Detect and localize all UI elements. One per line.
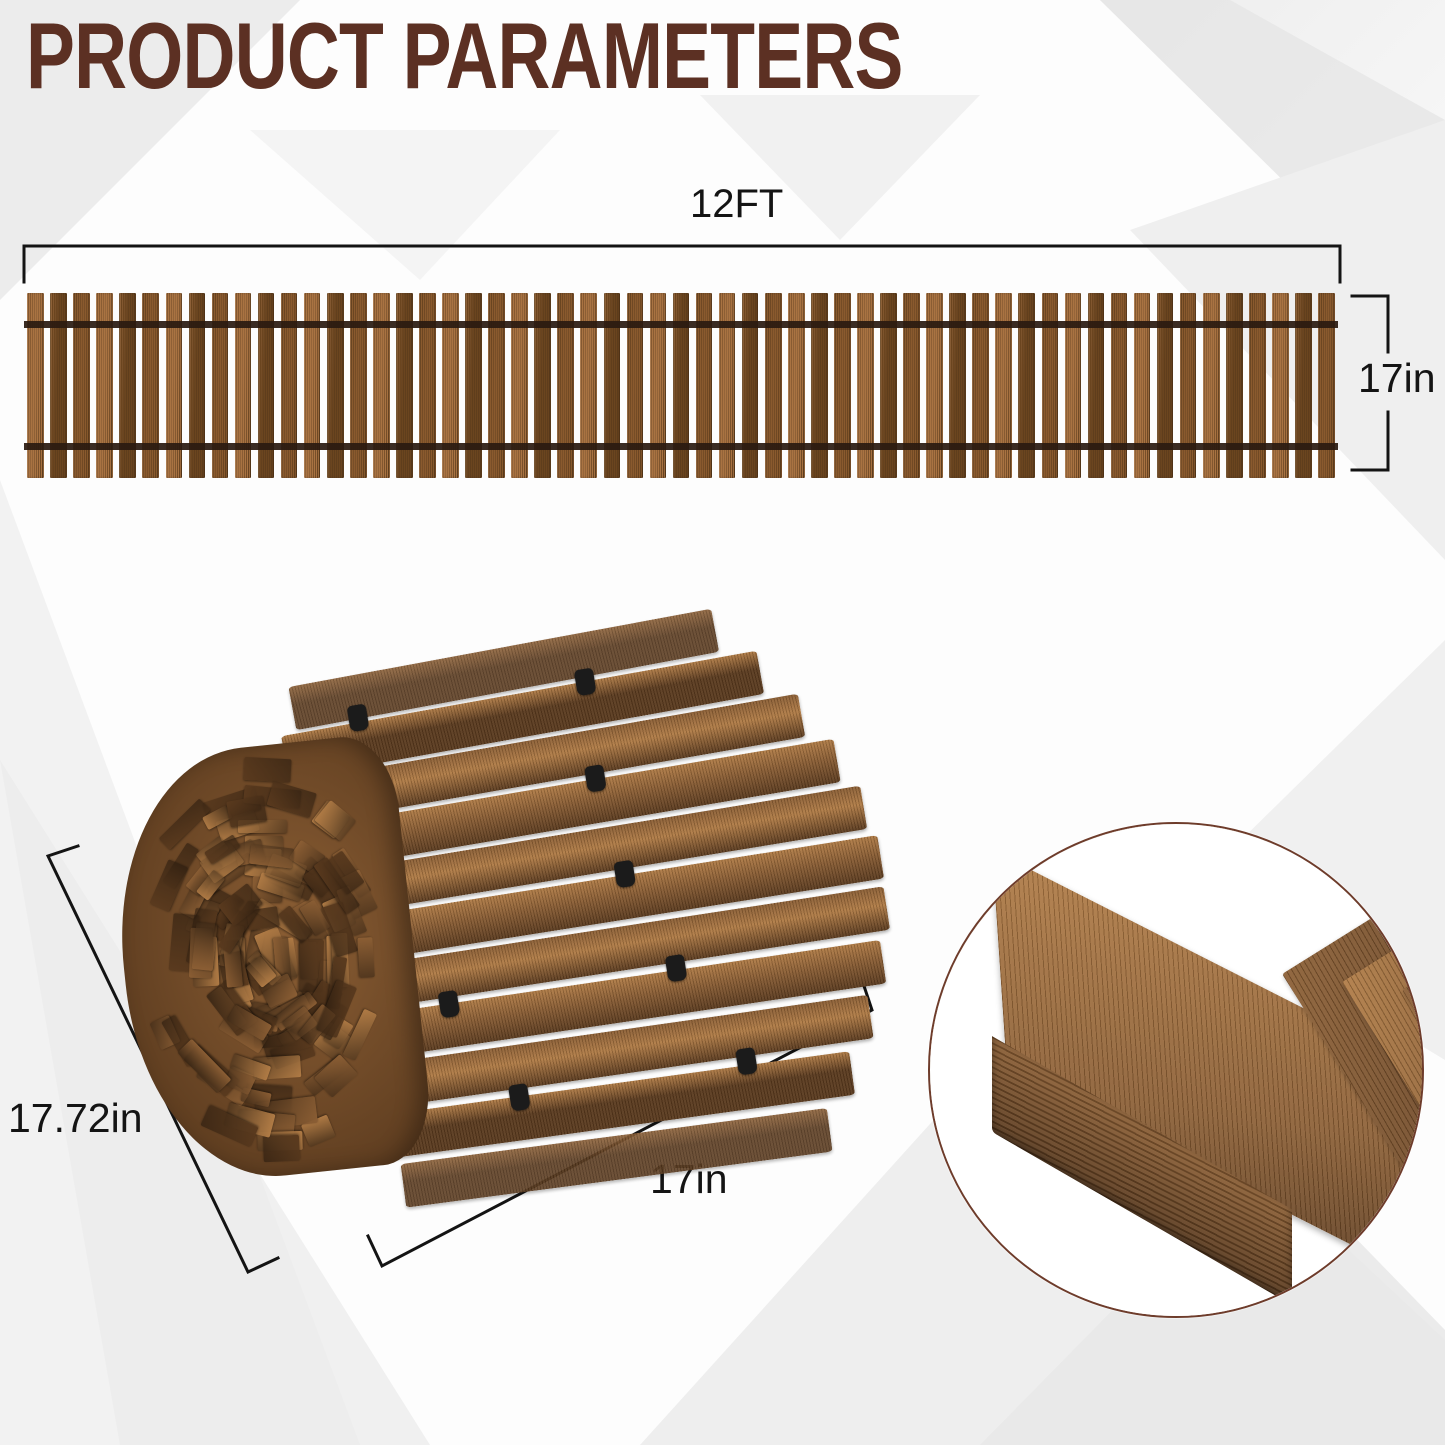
rubber-stud: [438, 990, 461, 1019]
mat-connector-band-bottom: [24, 443, 1338, 450]
rubber-stud: [508, 1083, 531, 1112]
mat-connector-band-top: [24, 321, 1338, 328]
rubber-stud: [347, 704, 370, 733]
dimension-bracket-length-12ft: [24, 246, 1340, 282]
rubber-stud: [574, 668, 597, 697]
dimension-bracket-width-17in-lower: [1352, 412, 1388, 470]
rubber-stud: [584, 764, 607, 793]
rubber-stud: [613, 860, 636, 889]
product-parameters-infographic: PRODUCT PARAMETERS 12FT 17in 17.72in 17i…: [0, 0, 1445, 1445]
dimension-bracket-width-17in-upper: [1352, 296, 1388, 352]
rolled-mat-illustration: [118, 596, 908, 1256]
roll-end-chip: [263, 1136, 300, 1163]
roll-end-chip: [314, 800, 356, 841]
roll-end-chip: [358, 937, 376, 978]
detail-inset-circle: [928, 822, 1424, 1318]
roll-end-chip: [158, 799, 210, 851]
roll-end-chip: [243, 757, 291, 782]
page-title: PRODUCT PARAMETERS: [26, 8, 903, 104]
dimension-label-length-12ft: 12FT: [690, 182, 783, 227]
detail-inset-content: [930, 824, 1422, 1316]
roll-end-chip: [267, 781, 318, 818]
flat-mat-illustration: [24, 293, 1338, 478]
dimension-label-width-17in: 17in: [1358, 355, 1436, 402]
rubber-stud: [735, 1047, 758, 1076]
rubber-stud: [665, 954, 688, 983]
rolled-mat-spiral-end: [102, 732, 435, 1190]
